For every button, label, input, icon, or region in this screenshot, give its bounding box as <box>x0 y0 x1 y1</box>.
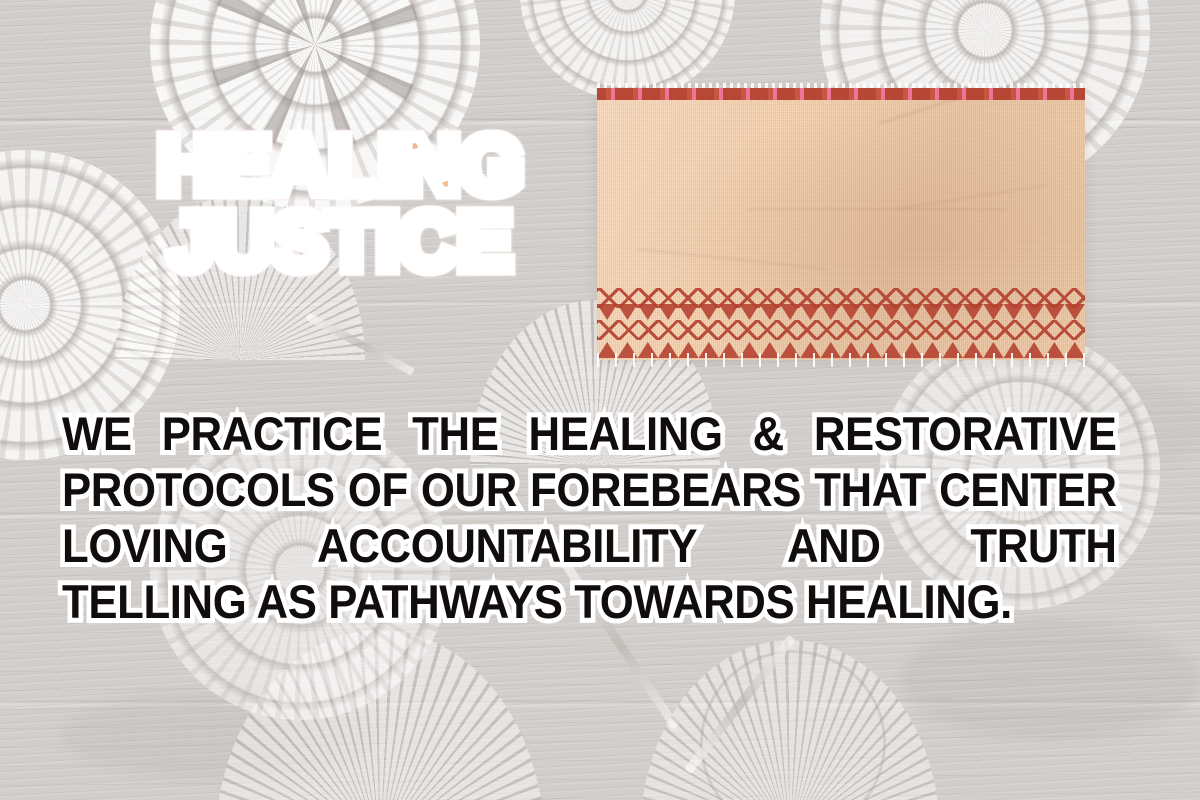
woven-textile-panel[interactable] <box>597 88 1085 360</box>
rug-top-border-stripe <box>597 88 1085 100</box>
rug-bottom-fringe <box>597 353 1085 367</box>
poster-canvas: HEALING JUSTICE WE PRACTICE THE HEALING … <box>0 0 1200 800</box>
wood-knot-shading <box>900 620 1200 740</box>
doily-spokes <box>150 420 450 720</box>
rug-triangle-row-upper <box>597 304 1085 320</box>
rug-scuff <box>747 208 1007 210</box>
rug-zigzag-band-lower <box>597 320 1085 340</box>
doily-right-mid <box>880 330 1160 610</box>
doily-spokes <box>880 330 1160 610</box>
doily-left-mid <box>150 420 450 720</box>
